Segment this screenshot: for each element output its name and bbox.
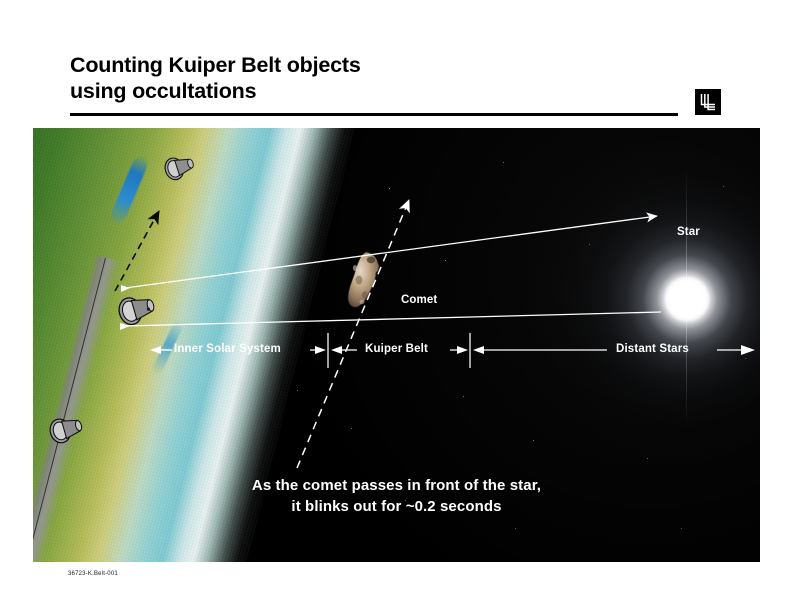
caption-line-1: As the comet passes in front of the star… xyxy=(33,475,760,496)
presentation-slide: Counting Kuiper Belt objects using occul… xyxy=(0,0,793,613)
illustration-caption: As the comet passes in front of the star… xyxy=(33,475,760,517)
sight-line-lower xyxy=(120,312,661,330)
page-title: Counting Kuiper Belt objects using occul… xyxy=(70,52,690,104)
footer-document-code: 36723-K.Belt-001 xyxy=(68,571,118,577)
title-divider xyxy=(70,113,678,116)
lockheed-martin-logo-icon xyxy=(695,89,721,115)
title-line-1: Counting Kuiper Belt objects xyxy=(70,52,690,78)
caption-line-2: it blinks out for ~0.2 seconds xyxy=(33,496,760,517)
title-line-2: using occultations xyxy=(70,78,690,104)
scale-label-kuiper-belt: Kuiper Belt xyxy=(365,343,428,355)
pointing-arrow-icon xyxy=(115,211,159,291)
sight-line-upper xyxy=(121,216,657,292)
scale-label-inner-solar-system: Inner Solar System xyxy=(174,343,281,355)
comet-label: Comet xyxy=(401,294,437,306)
illustration-panel: Star Comet Inner Solar System Kuiper Bel… xyxy=(33,128,760,562)
scale-label-distant-stars: Distant Stars xyxy=(616,343,689,355)
trajectory-arrow-icon xyxy=(297,200,409,468)
star-label: Star xyxy=(677,226,700,238)
